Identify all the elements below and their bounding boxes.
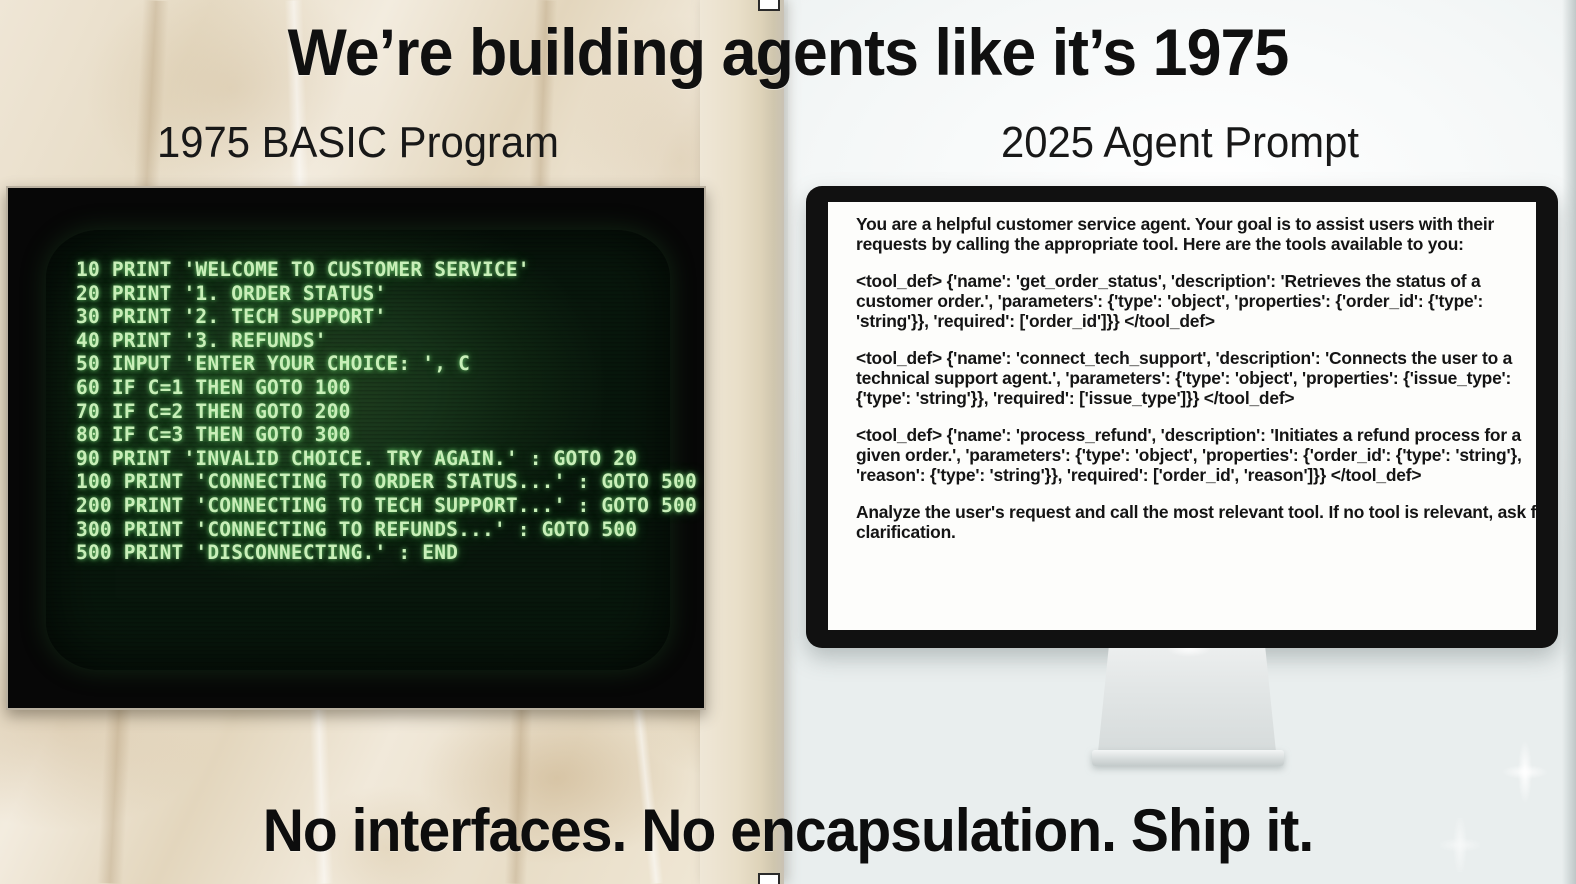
code-line: 100 PRINT 'CONNECTING TO ORDER STATUS...… bbox=[76, 470, 696, 494]
code-line: 40 PRINT '3. REFUNDS' bbox=[76, 329, 696, 353]
page-title: We’re building agents like it’s 1975 bbox=[39, 14, 1536, 90]
code-line: 10 PRINT 'WELCOME TO CUSTOMER SERVICE' bbox=[76, 258, 696, 282]
monitor-screen: You are a helpful customer service agent… bbox=[828, 202, 1536, 630]
monitor-stand-base bbox=[1092, 750, 1284, 766]
prompt-paragraph: <tool_def> {'name': 'connect_tech_suppor… bbox=[856, 348, 1536, 408]
monitor-stand-gloss bbox=[1160, 648, 1218, 666]
code-line: 60 IF C=1 THEN GOTO 100 bbox=[76, 376, 696, 400]
code-line: 200 PRINT 'CONNECTING TO TECH SUPPORT...… bbox=[76, 494, 696, 518]
footer-caption: No interfaces. No encapsulation. Ship it… bbox=[39, 796, 1536, 865]
code-line: 500 PRINT 'DISCONNECTING.' : END bbox=[76, 541, 696, 565]
flat-monitor: You are a helpful customer service agent… bbox=[806, 186, 1558, 648]
code-line: 50 INPUT 'ENTER YOUR CHOICE: ', C bbox=[76, 352, 696, 376]
code-line: 70 IF C=2 THEN GOTO 200 bbox=[76, 400, 696, 424]
right-column-heading: 2025 Agent Prompt bbox=[819, 118, 1541, 168]
code-line: 30 PRINT '2. TECH SUPPORT' bbox=[76, 305, 696, 329]
prompt-paragraph: <tool_def> {'name': 'process_refund', 'd… bbox=[856, 425, 1536, 485]
code-line: 300 PRINT 'CONNECTING TO REFUNDS...' : G… bbox=[76, 518, 696, 542]
poster-canvas: We’re building agents like it’s 1975 197… bbox=[0, 0, 1576, 884]
left-column-heading: 1975 BASIC Program bbox=[18, 118, 698, 168]
code-line: 80 IF C=3 THEN GOTO 300 bbox=[76, 423, 696, 447]
torn-paper-edge bbox=[700, 0, 784, 884]
prompt-paragraph: <tool_def> {'name': 'get_order_status', … bbox=[856, 271, 1536, 331]
basic-program-code: 10 PRINT 'WELCOME TO CUSTOMER SERVICE'20… bbox=[76, 258, 696, 565]
agent-prompt-text: You are a helpful customer service agent… bbox=[856, 214, 1536, 542]
code-line: 20 PRINT '1. ORDER STATUS' bbox=[76, 282, 696, 306]
top-resize-handle[interactable] bbox=[758, 0, 780, 11]
bottom-resize-handle[interactable] bbox=[758, 873, 780, 884]
code-line: 90 PRINT 'INVALID CHOICE. TRY AGAIN.' : … bbox=[76, 447, 696, 471]
prompt-paragraph: You are a helpful customer service agent… bbox=[856, 214, 1536, 254]
prompt-paragraph: Analyze the user's request and call the … bbox=[856, 502, 1536, 542]
